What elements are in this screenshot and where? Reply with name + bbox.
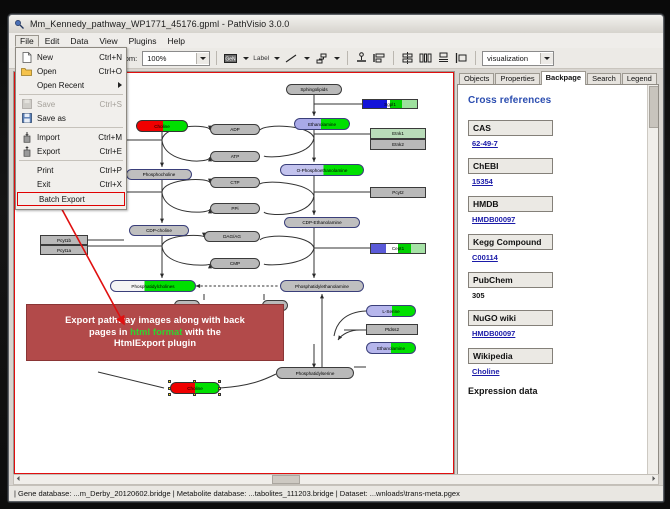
menu-item-export[interactable]: Export Ctrl+E [16,144,126,158]
menu-plugins[interactable]: Plugins [124,35,162,47]
xref-source-pubchem: PubChem [468,272,553,288]
line-icon[interactable] [284,51,299,66]
menu-item-open[interactable]: Open Ctrl+O [16,64,126,78]
visualization-combobox[interactable]: visualization [482,51,554,66]
tab-backpage[interactable]: Backpage [541,71,586,85]
title-bar: Mm_Kennedy_pathway_WP1771_45176.gpml - P… [9,15,663,34]
menu-item-print[interactable]: Print Ctrl+P [16,163,126,177]
save-icon [20,98,33,110]
submenu-arrow-icon [118,82,122,88]
menu-separator [19,160,123,161]
menu-data[interactable]: Data [65,35,93,47]
xref-source-cas: CAS [468,120,553,136]
xref-source-nugo: NuGO wiki [468,310,553,326]
menu-item-open-recent[interactable]: Open Recent [16,78,126,92]
xref-source-kegg: Kegg Compound [468,234,553,250]
common-width-icon[interactable] [436,51,451,66]
new-file-icon [20,51,33,63]
save-as-icon [20,112,33,124]
window-title: Mm_Kennedy_pathway_WP1771_45176.gpml - P… [30,19,289,29]
visualization-value: visualization [487,54,540,63]
desktop-background: Mm_Kennedy_pathway_WP1771_45176.gpml - P… [0,0,670,509]
menu-item-save: Save Ctrl+S [16,97,126,111]
horizontal-scrollbar[interactable] [13,474,659,485]
xref-source-hmdb: HMDB [468,196,553,212]
interaction-icon[interactable] [314,51,329,66]
xref-link-chebi[interactable]: 15354 [472,177,640,186]
xref-link-kegg[interactable]: C00114 [472,253,640,262]
menu-item-import[interactable]: Import Ctrl+M [16,130,126,144]
xref-link-hmdb[interactable]: HMDB00097 [472,215,640,224]
backpage-title: Cross references [468,95,640,106]
pathvisio-icon [14,19,25,30]
scrollbar-thumb[interactable] [649,86,659,128]
chevron-down-icon[interactable] [540,53,553,64]
label-button[interactable]: Label [253,55,269,62]
align-top-icon[interactable] [354,51,369,66]
status-text: | Gene database: ...m_Derby_20120602.bri… [14,489,460,498]
stack-center-icon[interactable] [400,51,415,66]
menu-item-save-as[interactable]: Save as [16,111,126,125]
datanode-icon[interactable]: GeN [223,51,238,66]
menu-separator [19,127,123,128]
application-window: Mm_Kennedy_pathway_WP1771_45176.gpml - P… [8,14,664,502]
status-bar: | Gene database: ...m_Derby_20120602.bri… [9,485,663,501]
scroll-left-icon[interactable] [14,475,23,482]
zoom-combobox[interactable]: 100% [142,51,210,66]
sidebar-tabs[interactable]: Objects Properties Backpage Search Legen… [457,71,659,85]
distribute-icon[interactable] [418,51,433,66]
backpage-scrollbar[interactable] [647,85,658,474]
xref-link-cas[interactable]: 62-49-7 [472,139,640,148]
file-menu-dropdown[interactable]: New Ctrl+N Open Ctrl+O Open Recent [15,47,127,210]
backpage-panel: Cross references CAS 62-49-7 ChEBI 15354… [457,84,659,475]
expression-data-heading: Expression data [468,386,640,396]
menu-edit[interactable]: Edit [40,35,65,47]
menu-item-new[interactable]: New Ctrl+N [16,50,126,64]
xref-source-wikipedia: Wikipedia [468,348,553,364]
interaction-dropdown-icon[interactable] [332,51,341,65]
datanode-dropdown-icon[interactable] [241,51,250,65]
xref-value-pubchem: 305 [472,291,640,300]
import-icon [20,131,33,143]
menu-help[interactable]: Help [163,35,190,47]
xref-source-chebi: ChEBI [468,158,553,174]
export-icon [20,145,33,157]
xref-link-nugo[interactable]: HMDB00097 [472,329,640,338]
right-sidebar: Objects Properties Backpage Search Legen… [457,71,659,475]
hscrollbar-thumb[interactable] [272,475,300,484]
line-dropdown-icon[interactable] [302,51,311,65]
menu-item-batch-export[interactable]: Batch Export [17,192,125,206]
menu-view[interactable]: View [94,35,122,47]
chevron-down-icon[interactable] [196,53,209,64]
svg-text:GeN: GeN [226,56,237,62]
xref-link-wikipedia[interactable]: Choline [472,367,640,376]
zoom-value: 100% [147,54,196,63]
menu-file[interactable]: File [15,35,39,47]
label-dropdown-icon[interactable] [272,51,281,65]
menu-item-exit[interactable]: Exit Ctrl+X [16,177,126,191]
open-folder-icon [20,65,33,77]
menu-separator [19,94,123,95]
align-left-icon[interactable] [372,51,387,66]
scroll-right-icon[interactable] [649,475,658,482]
common-height-icon[interactable] [454,51,469,66]
